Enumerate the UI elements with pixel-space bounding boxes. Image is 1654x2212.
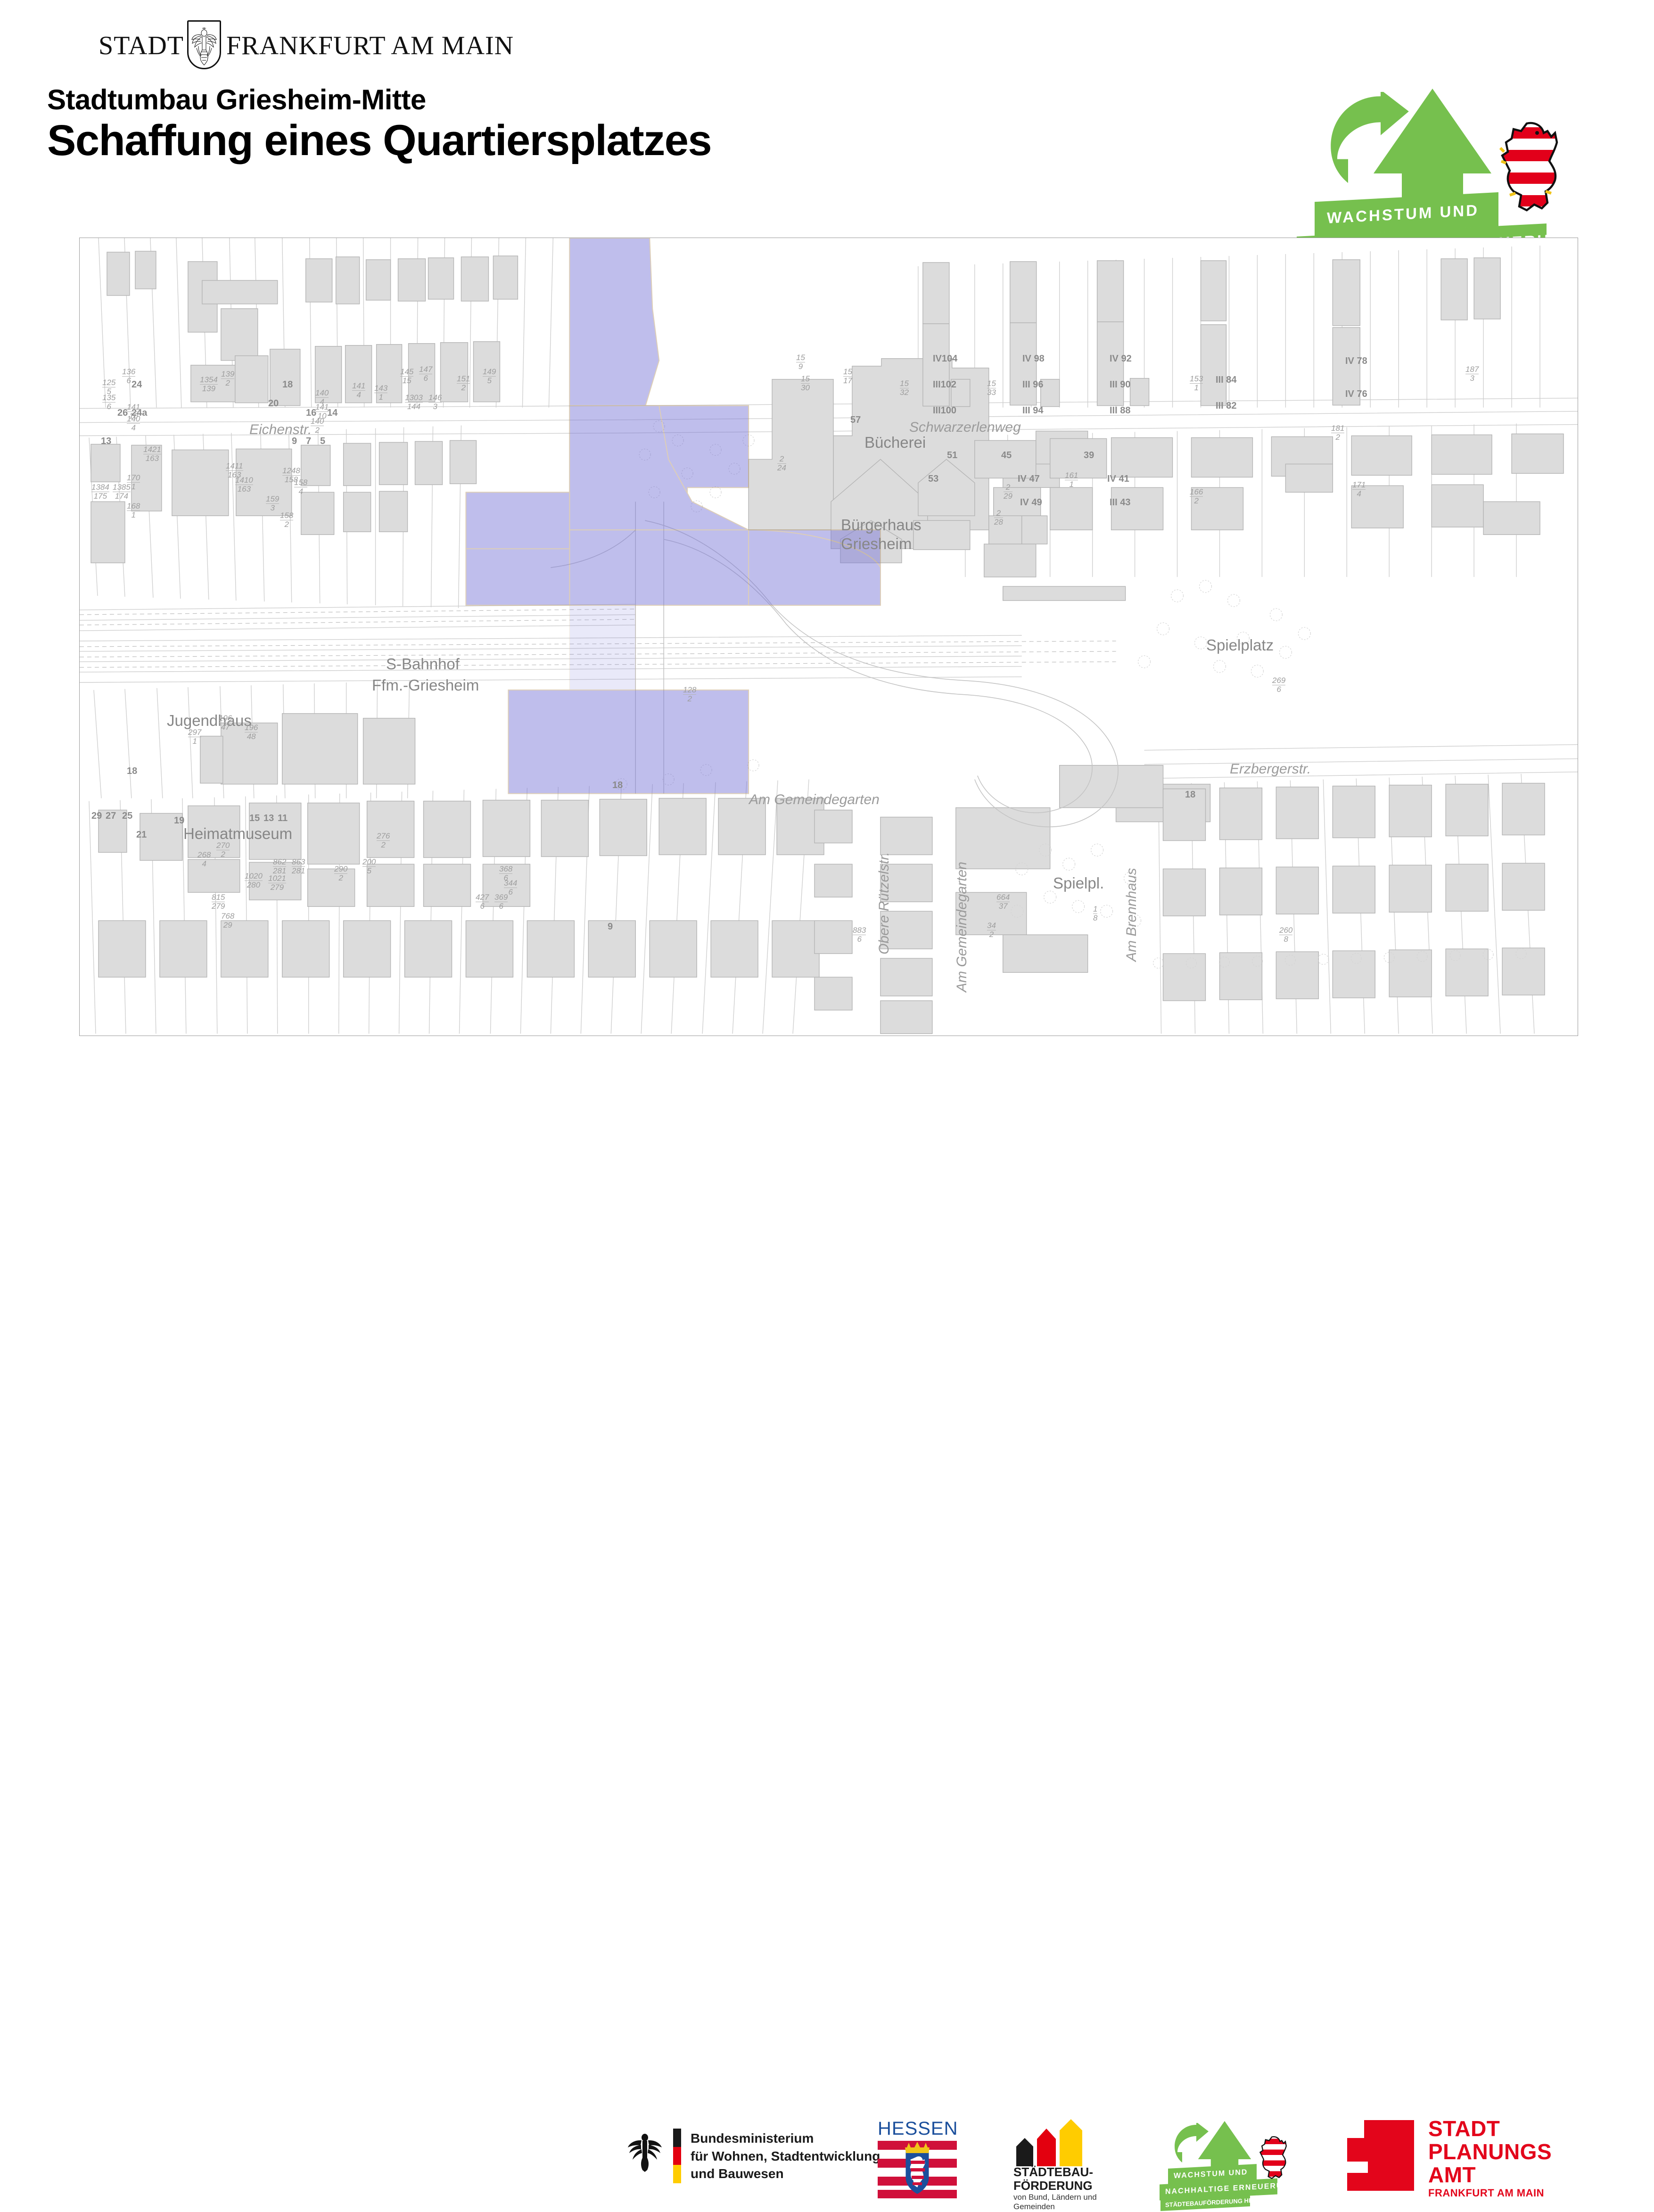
federal-eagle-icon (627, 2130, 663, 2173)
cadastral-map[interactable]: Eichenstr.SchwarzerlenwegAm Gemeindegart… (79, 238, 1578, 1036)
three-houses-icon (1012, 2119, 1101, 2171)
bmwsb-line-3: und Bauwesen (691, 2165, 880, 2183)
staedtebau-sub-1: von Bund, Ländern und (1013, 2193, 1097, 2202)
spa-line-3: AMT (1428, 2163, 1552, 2187)
stadtplanungsamt-mark-icon (1339, 2120, 1414, 2191)
german-flag-bar (673, 2129, 681, 2183)
page-title: Schaffung eines Quartiersplatzes (47, 116, 711, 165)
city-logo-text-left: STADT (71, 33, 184, 59)
bmwsb-text: Bundesministerium für Wohnen, Stadtentwi… (691, 2130, 880, 2183)
staedtebau-sub: von Bund, Ländern und Gemeinden (1013, 2193, 1097, 2212)
eagle-glyph (191, 25, 217, 67)
bundesministerium-logo: Bundesministerium für Wohnen, Stadtentwi… (627, 2125, 848, 2196)
hessen-lion-icon-small (1258, 2134, 1291, 2186)
stadtplanungsamt-logo: STADT PLANUNGS AMT FRANKFURT AM MAIN (1339, 2120, 1560, 2201)
page-header: STADT (0, 0, 1654, 236)
hessen-logo: HESSEN (876, 2120, 959, 2199)
staedtebau-line-2: FÖRDERUNG (1013, 2179, 1093, 2193)
project-subtitle: Stadtumbau Griesheim-Mitte (47, 85, 711, 115)
staedtebau-title: STÄDTEBAU- FÖRDERUNG (1013, 2165, 1093, 2193)
bmwsb-line-1: Bundesministerium (691, 2130, 880, 2147)
spa-line-1: STADT (1428, 2117, 1552, 2140)
staedtebau-sub-2: Gemeinden (1013, 2202, 1097, 2212)
hessen-lion-icon (1498, 118, 1564, 226)
city-logo-text-right: FRANKFURT AM MAIN (226, 33, 514, 59)
staedtebaufoerderung-logo: STÄDTEBAU- FÖRDERUNG von Bund, Ländern u… (1009, 2122, 1117, 2200)
stadt-frankfurt-logo: STADT (71, 26, 372, 71)
title-block: Stadtumbau Griesheim-Mitte Schaffung ein… (47, 85, 711, 165)
page-footer: Bundesministerium für Wohnen, Stadtentwi… (0, 1051, 1654, 1169)
hessen-flag-crest-icon (878, 2141, 957, 2198)
map-vector-layer (80, 238, 1578, 1036)
spa-title: STADT PLANUNGS AMT (1428, 2117, 1552, 2186)
frankfurt-eagle-crest-icon (187, 20, 221, 69)
bmwsb-line-2: für Wohnen, Stadtentwicklung (691, 2147, 880, 2165)
staedtebau-line-1: STÄDTEBAU- (1013, 2165, 1093, 2179)
wachstum-logo-footer: WACHSTUM UND NACHHALTIGE ERNEUERUNG STÄD… (1160, 2120, 1325, 2200)
spa-subtitle: FRANKFURT AM MAIN (1428, 2187, 1544, 2199)
spa-line-2: PLANUNGS (1428, 2140, 1552, 2163)
hessen-wordmark: HESSEN (878, 2118, 958, 2139)
